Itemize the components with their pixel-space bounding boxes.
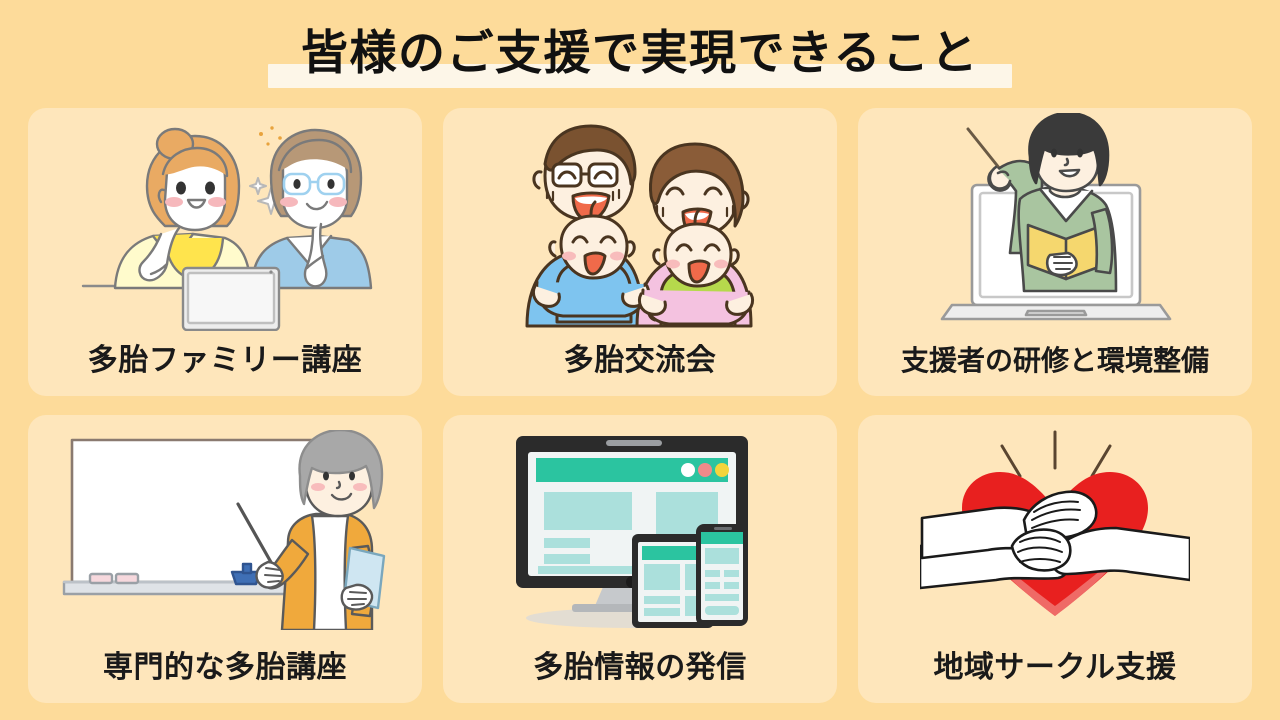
teacher-at-whiteboard-icon — [28, 415, 422, 645]
card-community-circle-support[interactable]: 地域サークル支援 — [858, 415, 1252, 703]
card-label: 専門的な多胎講座 — [28, 649, 422, 687]
card-supporter-training[interactable]: 支援者の研修と環境整備 — [858, 108, 1252, 396]
family-with-twin-babies-icon — [443, 108, 837, 338]
page-title: 皆様のご支援で実現できること — [301, 16, 979, 90]
card-specialized-course[interactable]: 専門的な多胎講座 — [28, 415, 422, 703]
card-tatai-family-course[interactable]: 多胎ファミリー講座 — [28, 108, 422, 396]
card-grid: 多胎ファミリー講座 — [28, 108, 1252, 703]
card-information-dissemination[interactable]: 多胎情報の発信 — [443, 415, 837, 703]
hands-over-heart-icon — [858, 415, 1252, 645]
card-label: 地域サークル支援 — [858, 649, 1252, 687]
card-label: 支援者の研修と環境整備 — [858, 342, 1252, 380]
couple-with-laptop-icon — [28, 108, 422, 338]
card-label: 多胎交流会 — [443, 342, 837, 380]
responsive-devices-icon — [443, 415, 837, 645]
card-tatai-exchange-meeting[interactable]: 多胎交流会 — [443, 108, 837, 396]
page-title-area: 皆様のご支援で実現できること — [0, 16, 1280, 96]
card-label: 多胎情報の発信 — [443, 649, 837, 687]
card-label: 多胎ファミリー講座 — [28, 342, 422, 380]
slide-root: 皆様のご支援で実現できること — [0, 0, 1280, 720]
teacher-in-laptop-icon — [858, 108, 1252, 338]
